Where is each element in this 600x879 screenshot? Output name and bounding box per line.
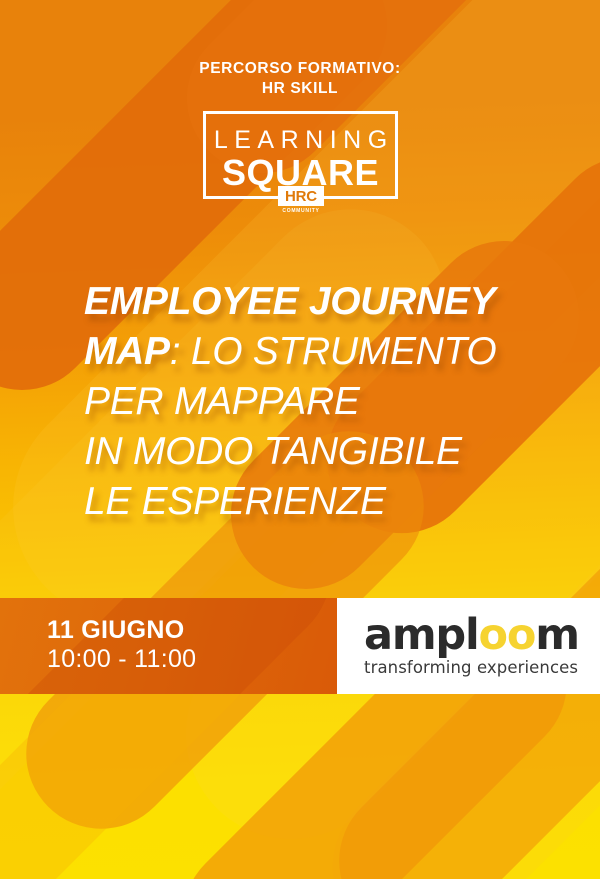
kicker-line-2: HR SKILL bbox=[0, 79, 600, 99]
title-line-4: IN MODO TANGIBILE bbox=[84, 427, 554, 477]
amploom-tagline: transforming experiences bbox=[364, 660, 579, 677]
title-line-3: PER MAPPARE bbox=[84, 377, 554, 427]
logo-word-learning: LEARNING bbox=[206, 128, 395, 153]
title-line-5: LE ESPERIENZE bbox=[84, 477, 554, 527]
amploom-logo: amploom transforming experiences bbox=[364, 614, 579, 677]
hrc-logo-badge: HRC bbox=[278, 186, 324, 206]
title-line-2: MAP: LO STRUMENTO bbox=[84, 327, 554, 377]
event-date: 11 GIUGNO bbox=[47, 618, 184, 643]
page-title: EMPLOYEE JOURNEY MAP: LO STRUMENTO PER M… bbox=[84, 277, 554, 527]
amploom-part-3: m bbox=[535, 610, 579, 660]
kicker-line-1: PERCORSO FORMATIVO: bbox=[0, 59, 600, 79]
title-line-2-bold: MAP bbox=[84, 330, 170, 373]
amploom-wordmark: amploom bbox=[364, 614, 579, 657]
sponsor-logo-panel: amploom transforming experiences bbox=[337, 598, 600, 694]
event-time: 10:00 - 11:00 bbox=[47, 647, 196, 672]
title-line-2-light: : LO STRUMENTO bbox=[170, 330, 497, 373]
amploom-part-1: ampl bbox=[364, 610, 479, 660]
date-time-panel: 11 GIUGNO 10:00 - 11:00 bbox=[0, 598, 337, 694]
event-poster: PERCORSO FORMATIVO: HR SKILL LEARNING SQ… bbox=[0, 0, 600, 879]
course-kicker: PERCORSO FORMATIVO: HR SKILL bbox=[0, 59, 600, 100]
title-line-1: EMPLOYEE JOURNEY bbox=[84, 277, 554, 327]
hrc-logo-text: HRC bbox=[285, 189, 317, 204]
event-info-band: 11 GIUGNO 10:00 - 11:00 amploom transfor… bbox=[0, 598, 600, 694]
amploom-part-oo: oo bbox=[479, 610, 536, 660]
title-line-1-text: EMPLOYEE JOURNEY bbox=[84, 280, 495, 323]
hrc-community-label: COMMUNITY bbox=[278, 208, 324, 214]
